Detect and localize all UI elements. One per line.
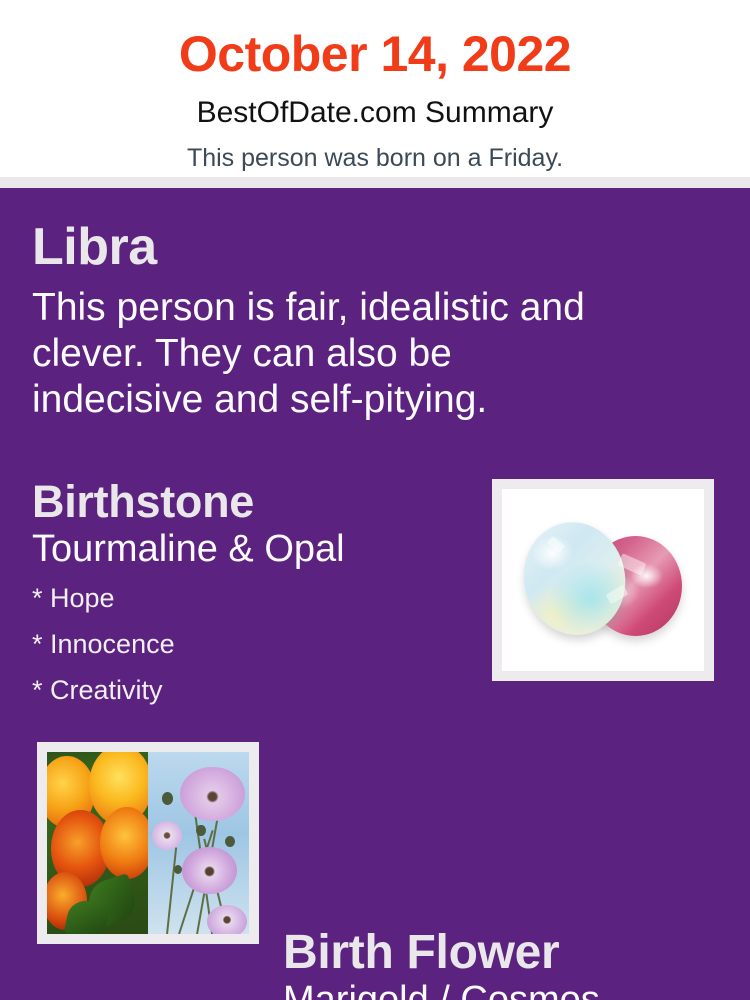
birthstone-image [502,489,704,671]
birthstone-image-frame [492,479,714,681]
birth-flower-image-frame [37,742,259,944]
flower-bud-icon [196,825,205,836]
list-item: * Innocence [32,631,472,658]
birth-flower-image [47,752,249,934]
birthstone-heading: Birthstone [32,478,472,525]
flower-illustration [47,752,249,934]
header: October 14, 2022 BestOfDate.com Summary … [0,0,750,177]
list-item: * Hope [32,585,472,612]
cosmos-bloom-icon [152,821,182,850]
site-summary-label: BestOfDate.com Summary [0,79,750,128]
flower-bud-icon [174,865,182,874]
zodiac-description: This person is fair, idealistic and clev… [32,285,612,423]
born-day-text: This person was born on a Friday. [0,128,750,171]
flower-bud-icon [162,792,173,805]
birth-flower-heading: Birth Flower [283,928,723,978]
cosmos-bloom-icon [182,847,237,894]
cosmos-photo-half [148,752,249,934]
summary-card: October 14, 2022 BestOfDate.com Summary … [0,0,750,1000]
list-item: * Creativity [32,677,472,704]
birth-flower-section: Birth Flower Marigold / Cosmos * Creativ… [283,928,723,1000]
birth-flower-names: Marigold / Cosmos [283,980,723,1000]
gemstone-illustration [502,489,704,671]
zodiac-section: Libra This person is fair, idealistic an… [32,220,632,423]
birthstone-section: Birthstone Tourmaline & Opal * Hope * In… [32,478,472,723]
page-title: October 14, 2022 [0,0,750,79]
flower-bud-icon [225,836,235,847]
stem-icon [166,847,177,934]
zodiac-sign-name: Libra [32,220,632,275]
birthstone-trait-list: * Hope * Innocence * Creativity [32,585,472,704]
birthstone-names: Tourmaline & Opal [32,529,472,571]
marigold-photo-half [47,752,148,934]
cosmos-bloom-icon [180,767,245,822]
cosmos-bloom-icon [207,905,247,934]
marigold-bloom-icon [100,807,148,880]
header-divider [0,177,750,188]
